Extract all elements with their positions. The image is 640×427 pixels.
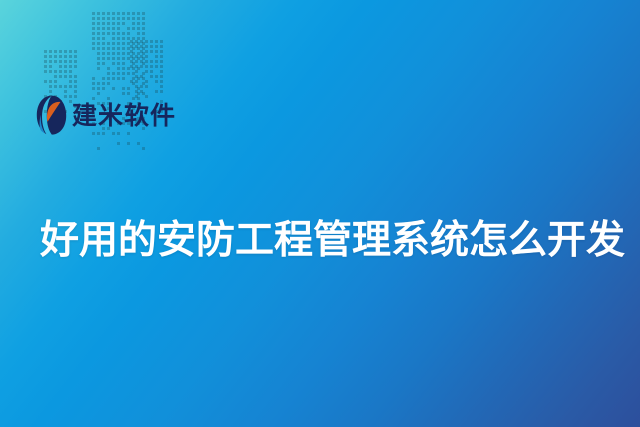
jianmi-logo-mark-icon [36, 95, 67, 135]
promo-banner: 建米软件 好用的安防工程管理系统怎么开发 [0, 0, 640, 427]
pixel-cityscape-decoration [44, 0, 156, 96]
brand-logo: 建米软件 [36, 94, 176, 136]
brand-wordmark: 建米软件 [72, 103, 176, 128]
banner-headline: 好用的安防工程管理系统怎么开发 [40, 219, 610, 264]
